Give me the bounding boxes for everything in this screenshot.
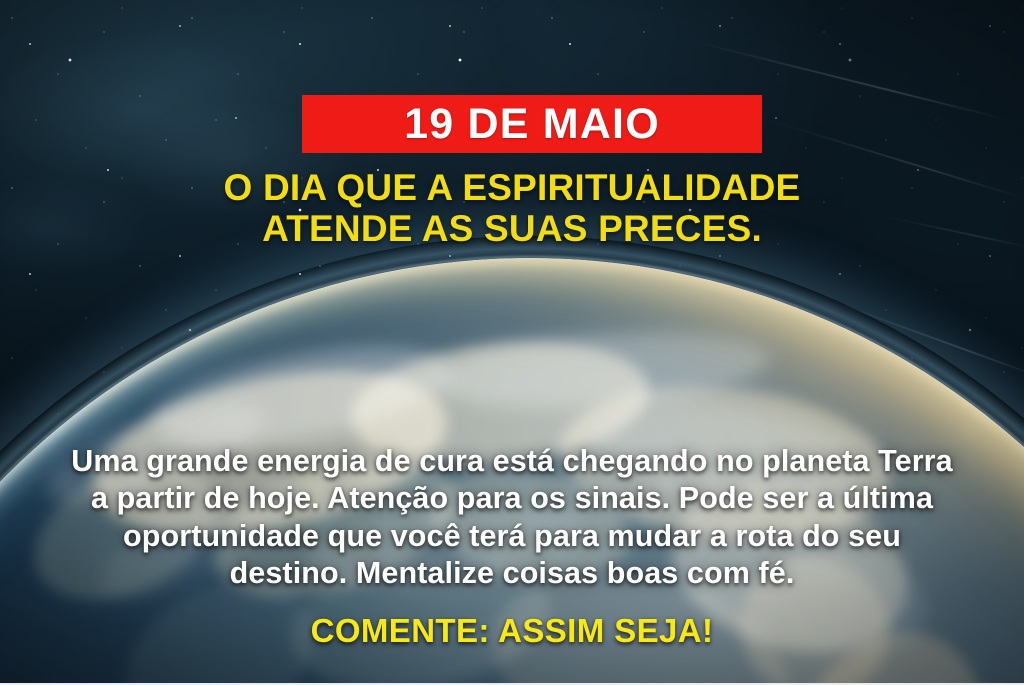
headline-line-1: O DIA QUE A ESPIRITUALIDADE bbox=[0, 167, 1024, 208]
date-badge: 19 DE MAIO bbox=[302, 95, 762, 153]
poster-canvas: 19 DE MAIO O DIA QUE A ESPIRITUALIDADE A… bbox=[0, 0, 1024, 685]
call-to-action-label: COMENTE: ASSIM SEJA! bbox=[0, 614, 1024, 647]
poster-content: 19 DE MAIO O DIA QUE A ESPIRITUALIDADE A… bbox=[0, 0, 1024, 685]
body-paragraph: Uma grande energia de cura está chegando… bbox=[62, 443, 962, 592]
date-badge-label: 19 DE MAIO bbox=[404, 103, 660, 146]
headline-line-2: ATENDE AS SUAS PRECES. bbox=[0, 208, 1024, 249]
page-title: O DIA QUE A ESPIRITUALIDADE ATENDE AS SU… bbox=[0, 167, 1024, 250]
